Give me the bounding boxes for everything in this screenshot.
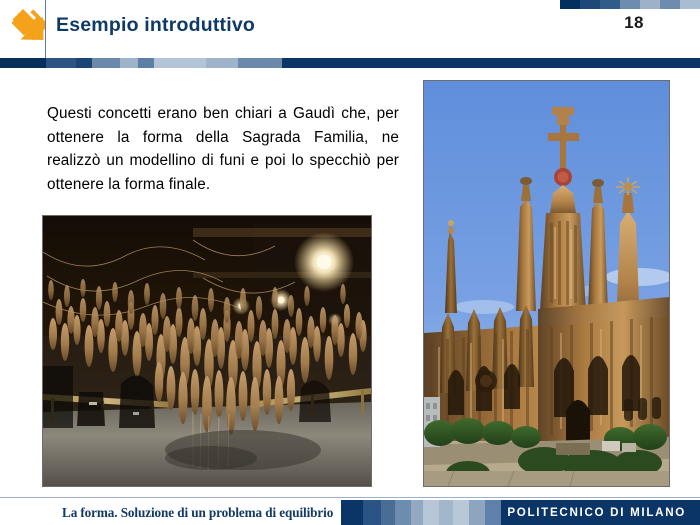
gradient-segment — [439, 500, 453, 525]
header-bar-fill — [345, 58, 700, 68]
footer-caption: La forma. Soluzione di un problema di eq… — [62, 505, 333, 521]
gradient-segment — [640, 0, 660, 9]
gradient-segment — [411, 500, 423, 525]
header-bar-gradient-segments — [0, 58, 345, 68]
gradient-segment — [660, 0, 680, 9]
gradient-segment — [282, 58, 345, 68]
gradient-segment — [620, 0, 640, 9]
gradient-segment — [453, 500, 469, 525]
header-accent-bar — [0, 58, 700, 68]
gradient-segment — [381, 500, 395, 525]
gradient-segment — [92, 58, 120, 68]
header-corner-gradient — [560, 0, 700, 9]
body-paragraph: Questi concetti erano ben chiari a Gaudì… — [47, 102, 399, 196]
header-divider — [45, 0, 46, 58]
gaudi-hanging-chain-model-photo — [42, 215, 372, 487]
university-name: POLITECNICO DI MILANO — [507, 506, 686, 519]
page-title: Esempio introduttivo — [56, 14, 255, 37]
gradient-segment — [680, 0, 700, 9]
gradient-segment — [138, 58, 154, 68]
slide-footer: La forma. Soluzione di un problema di eq… — [0, 493, 700, 525]
slide-content: Questi concetti erano ben chiari a Gaudì… — [0, 68, 700, 493]
gradient-segment — [363, 500, 381, 525]
page-number: 18 — [624, 13, 644, 33]
gradient-segment — [46, 58, 76, 68]
hanging-model-illustration — [43, 216, 371, 486]
gradient-segment — [469, 500, 485, 525]
gradient-segment — [423, 500, 439, 525]
gradient-segment — [76, 58, 92, 68]
footer-strip: La forma. Soluzione di un problema di eq… — [0, 500, 700, 525]
footer-caption-box: La forma. Soluzione di un problema di eq… — [56, 500, 341, 525]
gradient-segment — [580, 0, 600, 9]
footer-top-divider — [0, 497, 700, 498]
footer-gradient-segments — [341, 500, 501, 525]
gradient-segment — [120, 58, 138, 68]
footer-left-spacer — [0, 500, 56, 525]
sagrada-familia-illustration — [424, 81, 669, 486]
gradient-segment — [341, 500, 363, 525]
gradient-segment — [238, 58, 282, 68]
gradient-segment — [0, 58, 46, 68]
gradient-segment — [154, 58, 206, 68]
gradient-segment — [395, 500, 411, 525]
arrow-down-right-icon — [12, 8, 46, 44]
sagrada-familia-photo — [423, 80, 670, 487]
slide-header: Esempio introduttivo 18 — [0, 0, 700, 58]
gradient-segment — [600, 0, 620, 9]
gradient-segment — [206, 58, 238, 68]
gradient-segment — [560, 0, 580, 9]
footer-university-area: POLITECNICO DI MILANO — [501, 500, 700, 525]
gradient-segment — [485, 500, 501, 525]
